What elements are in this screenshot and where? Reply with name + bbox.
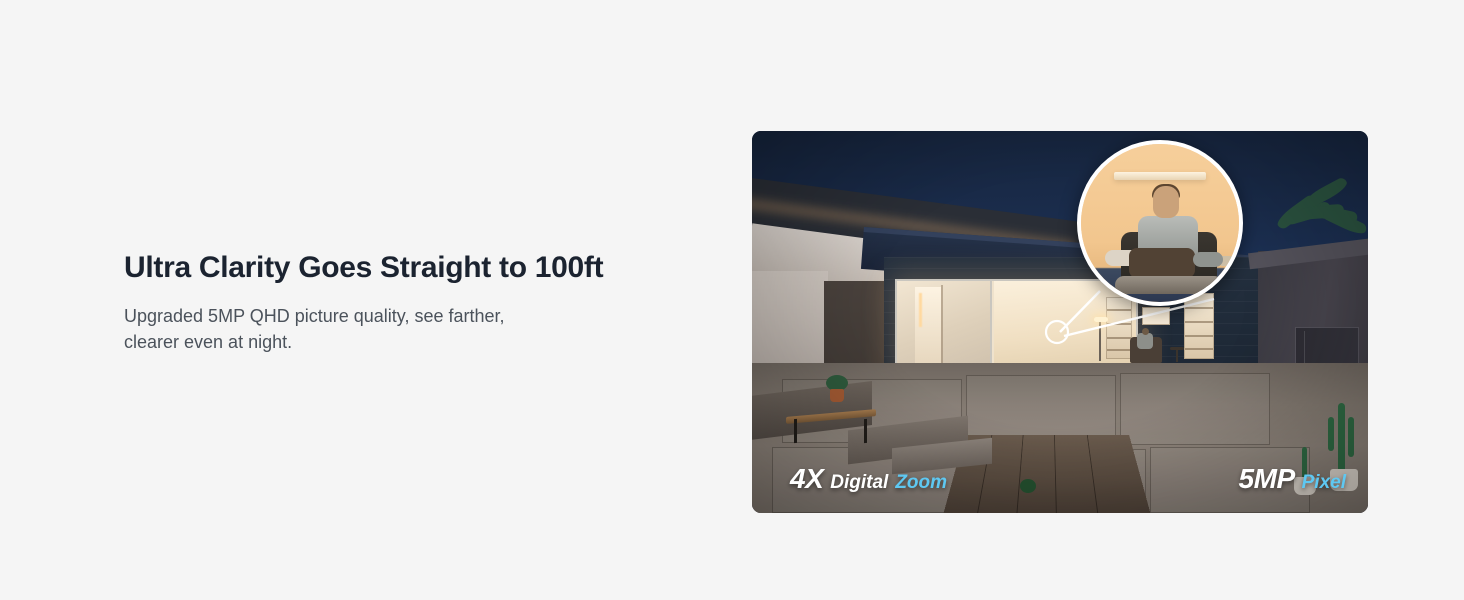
palm-foliage xyxy=(1272,183,1368,253)
magnified-chair-base xyxy=(1115,276,1223,294)
magnifier-circle xyxy=(1077,140,1243,306)
digital-zoom-badge: 4X Digital Zoom xyxy=(790,463,947,495)
subtitle-line-1: Upgraded 5MP QHD picture quality, see fa… xyxy=(124,306,505,326)
pixel-badge: 5MP Pixel xyxy=(1239,463,1346,495)
cactus-arm-left xyxy=(1328,417,1334,451)
floor-lamp-head xyxy=(1094,317,1108,322)
magnified-person-head xyxy=(1153,186,1179,218)
deck-succulent xyxy=(1020,479,1036,493)
pixel-value: 5MP xyxy=(1239,463,1295,495)
bookshelf-right xyxy=(1184,293,1214,359)
promo-banner: Ultra Clarity Goes Straight to 100ft Upg… xyxy=(0,0,1464,600)
product-scene-image: 4X Digital Zoom 5MP Pixel xyxy=(752,131,1368,513)
bench-leg-left xyxy=(794,419,797,443)
bench-leg-right xyxy=(864,419,867,443)
magnified-person-legs xyxy=(1129,248,1195,278)
magnified-person-arm xyxy=(1193,252,1223,267)
person-body xyxy=(1137,333,1153,349)
zoom-factor-value: 4X xyxy=(790,463,823,495)
zoom-label-zoom: Zoom xyxy=(895,472,947,494)
person-head xyxy=(1142,328,1149,335)
side-table-leg xyxy=(1176,350,1178,362)
page-title: Ultra Clarity Goes Straight to 100ft xyxy=(124,250,724,286)
pixel-label: Pixel xyxy=(1302,472,1346,494)
bench-plant-pot xyxy=(830,389,844,402)
magnified-ceiling-light xyxy=(1114,172,1206,180)
window-pane-left xyxy=(897,281,992,370)
floor-lamp-pole xyxy=(1099,321,1101,361)
page-subtitle: Upgraded 5MP QHD picture quality, see fa… xyxy=(124,304,634,355)
cactus-arm-right xyxy=(1348,417,1354,457)
marketing-copy: Ultra Clarity Goes Straight to 100ft Upg… xyxy=(124,250,724,355)
bookshelf-left xyxy=(1106,297,1132,359)
framed-artwork xyxy=(1142,307,1170,325)
interior-wall-light xyxy=(919,293,922,327)
interior-door-edge xyxy=(941,285,943,369)
zoom-label-digital: Digital xyxy=(830,472,888,494)
subtitle-line-2: clearer even at night. xyxy=(124,330,634,356)
